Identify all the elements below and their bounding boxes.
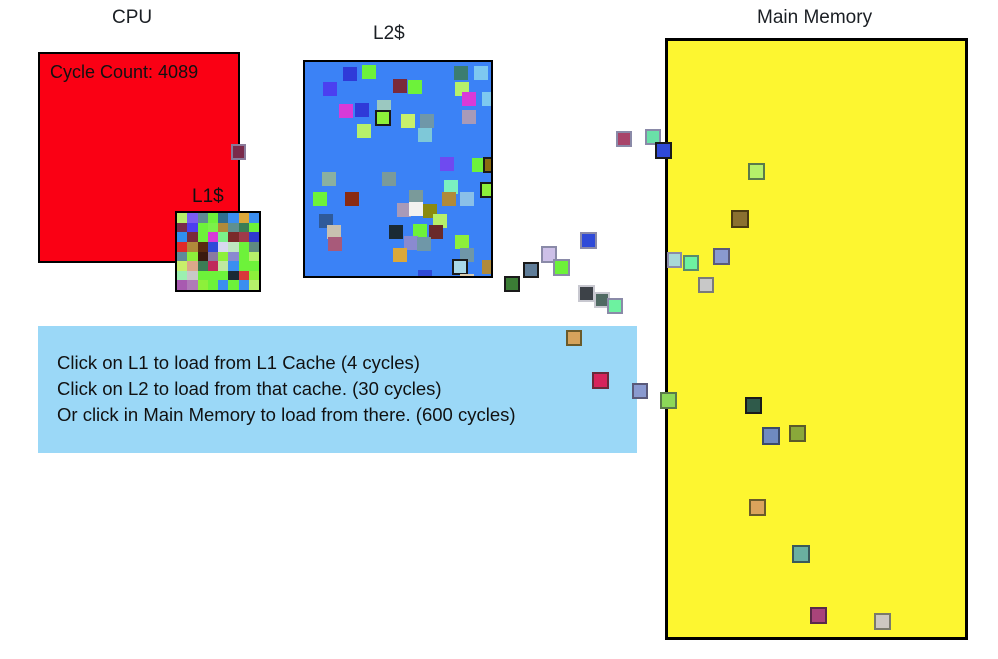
l2-cache-cell[interactable] (460, 274, 474, 278)
l2-cache-cell[interactable] (323, 82, 337, 96)
cpu-title-label: CPU (112, 8, 152, 27)
l1-cache-cell[interactable] (177, 213, 187, 223)
l1-cache-cell[interactable] (249, 280, 259, 290)
l1-cache-cell[interactable] (198, 280, 208, 290)
l2-cache-cell[interactable] (482, 92, 493, 106)
l2-cache-cell[interactable] (462, 110, 476, 124)
block-mem-1[interactable] (683, 255, 699, 271)
block-inflight-9[interactable] (578, 285, 595, 302)
block-inflight-11[interactable] (607, 298, 623, 314)
l1-cache-cell[interactable] (198, 252, 208, 262)
instruction-line-main-memory: Or click in Main Memory to load from the… (57, 406, 516, 425)
l2-cache-cell[interactable] (474, 66, 488, 80)
l2-cache-cell[interactable] (417, 237, 431, 251)
l2-cache-cell[interactable] (343, 67, 357, 81)
main-memory-box[interactable] (665, 38, 968, 640)
l2-cache-cell[interactable] (440, 157, 454, 171)
l1-cache-cell[interactable] (187, 242, 197, 252)
l1-cache-cell[interactable] (198, 242, 208, 252)
l1-cache-cell[interactable] (228, 261, 238, 271)
l1-cache-cell[interactable] (228, 232, 238, 242)
block-mem-6[interactable] (745, 397, 762, 414)
l1-cache-cell[interactable] (208, 242, 218, 252)
l1-cache-cell[interactable] (208, 223, 218, 233)
instructions-panel: Click on L1 to load from L1 Cache (4 cyc… (38, 326, 637, 453)
l1-cache-cell[interactable] (239, 271, 249, 281)
l1-cache-cell[interactable] (239, 213, 249, 223)
main-memory-title-label: Main Memory (757, 8, 872, 27)
l1-cache-cell[interactable] (198, 261, 208, 271)
block-inflight-13[interactable] (592, 372, 609, 389)
l1-cache-cell[interactable] (218, 261, 228, 271)
l2-cache-cell[interactable] (418, 270, 432, 278)
l1-cache-cell[interactable] (249, 242, 259, 252)
block-mem-3[interactable] (698, 277, 714, 293)
block-inflight-6[interactable] (553, 259, 570, 276)
block-inflight-4[interactable] (580, 232, 597, 249)
l2-cache-box[interactable] (303, 60, 493, 278)
l1-cache-cell[interactable] (187, 280, 197, 290)
l1-cache-cell[interactable] (218, 232, 228, 242)
block-mem-12[interactable] (874, 613, 891, 630)
l1-cache-cell[interactable] (228, 242, 238, 252)
l1-cache-cell[interactable] (228, 213, 238, 223)
block-mem-4[interactable] (748, 163, 765, 180)
l1-cache-cell[interactable] (208, 280, 218, 290)
l1-cache-cell[interactable] (187, 232, 197, 242)
l1-cache-cell[interactable] (208, 252, 218, 262)
l2-cache-cell[interactable] (313, 192, 327, 206)
l2-cache-cell[interactable] (460, 192, 474, 206)
l1-cache-cell[interactable] (208, 232, 218, 242)
l2-cache-cell[interactable] (355, 103, 369, 117)
cache-simulator-canvas: CPU Cycle Count: 4089 L1$ L2$ Main Memor… (0, 0, 998, 659)
l1-cache-cell[interactable] (239, 223, 249, 233)
block-inflight-8[interactable] (504, 276, 520, 292)
l2-cache-cell[interactable] (357, 124, 371, 138)
block-mem-9[interactable] (749, 499, 766, 516)
l2-cache-cell[interactable] (393, 248, 407, 262)
l1-cache-cell[interactable] (249, 213, 259, 223)
block-inflight-14[interactable] (632, 383, 648, 399)
l2-cache-cell[interactable] (409, 202, 423, 216)
l1-cache-cell[interactable] (228, 252, 238, 262)
l1-cache-cell[interactable] (239, 261, 249, 271)
l2-cache-cell[interactable] (420, 114, 434, 128)
l1-cache-cell[interactable] (208, 213, 218, 223)
l1-cache-cell[interactable] (198, 232, 208, 242)
l2-cache-cell[interactable] (393, 79, 407, 93)
l1-cache-cell[interactable] (239, 232, 249, 242)
l2-cache-cell[interactable] (339, 104, 353, 118)
l2-cache-cell[interactable] (482, 260, 493, 274)
block-mem-edge-1[interactable] (660, 392, 677, 409)
l1-cache-cell[interactable] (208, 261, 218, 271)
l1-cache-cell[interactable] (198, 271, 208, 281)
l1-cache-cell[interactable] (218, 213, 228, 223)
l2-cache-cell[interactable] (362, 65, 376, 79)
l2-cache-cell[interactable] (418, 128, 432, 142)
l1-cache-cell[interactable] (249, 232, 259, 242)
l1-cache-cell[interactable] (218, 271, 228, 281)
l1-cache-cell[interactable] (208, 271, 218, 281)
l2-cache-cell[interactable] (322, 172, 336, 186)
l1-cache-cell[interactable] (249, 271, 259, 281)
l1-cache-cell[interactable] (239, 280, 249, 290)
l1-cache-cell[interactable] (177, 242, 187, 252)
cpu-box[interactable]: Cycle Count: 4089 L1$ (38, 52, 240, 263)
l1-cache-cell[interactable] (187, 252, 197, 262)
block-mem-11[interactable] (810, 607, 827, 624)
l1-cache-cell[interactable] (249, 261, 259, 271)
l2-cache-cell[interactable] (452, 259, 468, 275)
block-inflight-3[interactable] (655, 142, 672, 159)
l1-cache-cell[interactable] (218, 223, 228, 233)
l2-cache-cell[interactable] (382, 172, 396, 186)
l2-cache-cell[interactable] (429, 225, 443, 239)
l1-cache-cell[interactable] (177, 271, 187, 281)
l2-cache-cell[interactable] (442, 192, 456, 206)
l1-cache-cell[interactable] (177, 223, 187, 233)
l2-cache-cell[interactable] (408, 80, 422, 94)
l1-cache-cell[interactable] (249, 223, 259, 233)
block-mem-edge-2[interactable] (667, 252, 682, 268)
block-mem-7[interactable] (762, 427, 780, 445)
l2-cache-cell[interactable] (480, 182, 493, 198)
block-inflight-12[interactable] (566, 330, 582, 346)
instruction-line-l2: Click on L2 to load from that cache. (30… (57, 380, 442, 399)
l1-cache-cell[interactable] (239, 252, 249, 262)
l2-cache-cell[interactable] (483, 157, 493, 173)
cycle-count-label: Cycle Count: 4089 (50, 62, 198, 83)
l2-cache-cell[interactable] (454, 66, 468, 80)
l1-cache-cell[interactable] (249, 252, 259, 262)
block-inflight-7[interactable] (523, 262, 539, 278)
l2-cache-title-label: L2$ (373, 24, 405, 43)
l1-cache-cell[interactable] (187, 223, 197, 233)
l2-cache-cell[interactable] (345, 192, 359, 206)
block-mem-2[interactable] (713, 248, 730, 265)
l2-cache-cell[interactable] (455, 235, 469, 249)
block-mem-5[interactable] (731, 210, 749, 228)
l1-cache-cell[interactable] (218, 242, 228, 252)
l2-cache-cell[interactable] (328, 237, 342, 251)
l2-cache-cell[interactable] (462, 92, 476, 106)
l2-cache-cell[interactable] (401, 114, 415, 128)
l1-cache-title-label: L1$ (192, 186, 224, 208)
l1-cache-cell[interactable] (239, 242, 249, 252)
block-cpu-edge[interactable] (231, 144, 246, 160)
l1-cache-cell[interactable] (198, 223, 208, 233)
l1-cache-cell[interactable] (187, 261, 197, 271)
l2-cache-cell[interactable] (375, 110, 391, 126)
l1-cache-cell[interactable] (228, 271, 238, 281)
l1-cache-cell[interactable] (218, 252, 228, 262)
l1-cache-cell[interactable] (228, 223, 238, 233)
block-inflight-1[interactable] (616, 131, 632, 147)
l1-cache-cell[interactable] (177, 261, 187, 271)
instruction-line-l1: Click on L1 to load from L1 Cache (4 cyc… (57, 354, 420, 373)
l1-cache-cell[interactable] (177, 232, 187, 242)
l1-cache-cell[interactable] (177, 252, 187, 262)
l1-cache-grid[interactable] (175, 211, 261, 292)
block-mem-8[interactable] (789, 425, 806, 442)
l2-cache-cell[interactable] (389, 225, 403, 239)
block-mem-10[interactable] (792, 545, 810, 563)
l1-cache-cell[interactable] (218, 280, 228, 290)
l1-cache-cell[interactable] (198, 213, 208, 223)
l1-cache-cell[interactable] (187, 213, 197, 223)
l1-cache-cell[interactable] (228, 280, 238, 290)
l1-cache-cell[interactable] (187, 271, 197, 281)
l1-cache-cell[interactable] (177, 280, 187, 290)
